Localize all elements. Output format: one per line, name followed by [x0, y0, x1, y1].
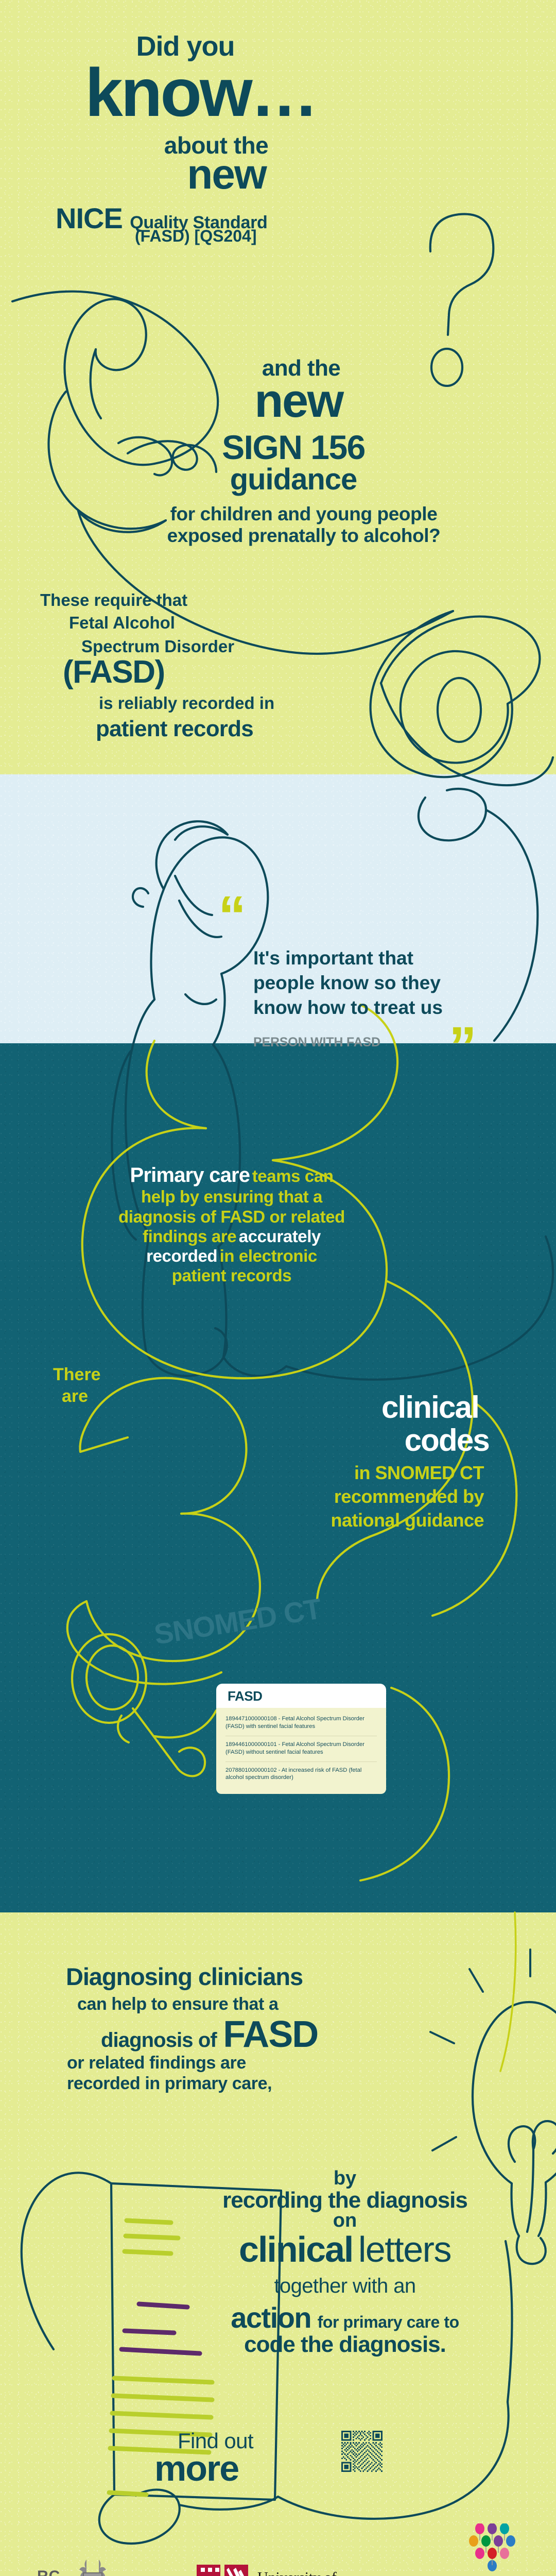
diagnosing-line-4: or related findings are: [67, 2054, 396, 2072]
rcpsych-rc: RC: [37, 2568, 60, 2576]
codes-line-5: national guidance: [206, 1511, 484, 1530]
bristol-line-1: University of: [257, 2569, 337, 2576]
quote-line-3: know how to treat us: [253, 997, 521, 1018]
snomed-code-row: 1894461000000101 - Fetal Alcohol Spectru…: [225, 1736, 377, 1761]
sign-line-2: new: [170, 376, 427, 427]
require-line-1: These require that: [40, 591, 328, 609]
quote-open-mark: “: [218, 894, 246, 936]
codes-are: are: [62, 1387, 88, 1405]
header-line-6: (FASD) [QS204]: [135, 228, 403, 245]
sign-line-5: for children and young people: [149, 504, 458, 524]
nofasd-logo: NATIONAL ORGANISATION — F O R — FASD: [453, 2523, 525, 2576]
diagnosing-line-1: Diagnosing clinicians: [66, 1964, 395, 1990]
primary-care-line-6: patient records: [88, 1266, 376, 1285]
letters-line-7: code the diagnosis.: [201, 2333, 489, 2357]
qr-code-icon[interactable]: [341, 2431, 383, 2472]
sign-line-4: guidance: [165, 464, 422, 495]
quote-line-2: people know so they: [253, 973, 521, 993]
snomed-card-body: 1894471000000108 - Fetal Alcohol Spectru…: [216, 1707, 386, 1794]
find-out-line-2: more: [154, 2449, 340, 2487]
rcpsych-logo: RC PSYCH ROYAL COLLEGE OF PSYCHIATRISTS: [31, 2555, 144, 2576]
snomed-card: FASD 1894471000000108 - Fetal Alcohol Sp…: [216, 1684, 386, 1794]
quote-line-1: It's important that: [253, 948, 521, 968]
footer-logos: RC PSYCH ROYAL COLLEGE OF PSYCHIATRISTS …: [0, 2555, 556, 2576]
snomed-code-row: 1894471000000108 - Fetal Alcohol Spectru…: [225, 1714, 377, 1736]
require-line-2: Fetal Alcohol: [69, 614, 357, 632]
require-line-6: patient records: [96, 717, 384, 741]
quote-attribution: PERSON WITH FASD: [253, 1036, 521, 1049]
header-line-4: new: [103, 152, 350, 197]
codes-line-2: codes: [216, 1424, 489, 1457]
letters-line-3: on: [216, 2210, 474, 2231]
codes-line-3: in SNOMED CT: [216, 1463, 484, 1483]
primary-care-line-4: findings are accurately: [88, 1227, 376, 1246]
letters-line-5: together with an: [206, 2275, 484, 2297]
bristol-logo: University of BRISTOL: [192, 2558, 367, 2576]
require-line-3: Spectrum Disorder: [81, 638, 370, 656]
letters-line-6: action for primary care to: [201, 2301, 489, 2334]
diagnosing-line-2: can help to ensure that a: [77, 1995, 407, 2013]
codes-line-1: clinical: [216, 1391, 479, 1424]
require-line-5: is reliably recorded in: [99, 694, 387, 713]
codes-there: There: [53, 1365, 101, 1384]
header-nice-brand: NICE: [56, 202, 123, 234]
letters-line-1: by: [216, 2168, 474, 2189]
diagnosing-line-3: diagnosis of FASD: [101, 2013, 451, 2056]
snomed-card-title: FASD: [216, 1684, 386, 1708]
sign-line-6: exposed prenatally to alcohol?: [149, 526, 458, 546]
codes-line-4: recommended by: [206, 1487, 484, 1506]
letters-line-2: recording the diagnosis: [206, 2189, 484, 2213]
rcpsych-crest-icon: [78, 2560, 108, 2576]
bristol-shield-icon: [197, 2565, 248, 2576]
snomed-code-row: 2078801000000102 - At increased risk of …: [225, 1761, 377, 1787]
primary-care-line-5: recorded in electronic: [88, 1246, 376, 1266]
diagnosing-line-5: recorded in primary care,: [67, 2074, 396, 2093]
primary-care-line-3: diagnosis of FASD or related: [88, 1207, 376, 1227]
sign-line-3: SIGN 156: [154, 430, 432, 466]
infographic-page: Did you know… about the new NICE Quality…: [0, 0, 556, 2576]
header-line-2: know…: [21, 57, 381, 129]
nofasd-dots-icon: [469, 2523, 515, 2571]
letters-line-4: clinical letters: [206, 2229, 484, 2270]
primary-care-line-1: Primary care teams can: [88, 1163, 376, 1187]
primary-care-line-2: help by ensuring that a: [88, 1187, 376, 1207]
require-line-4: (FASD): [63, 655, 351, 689]
